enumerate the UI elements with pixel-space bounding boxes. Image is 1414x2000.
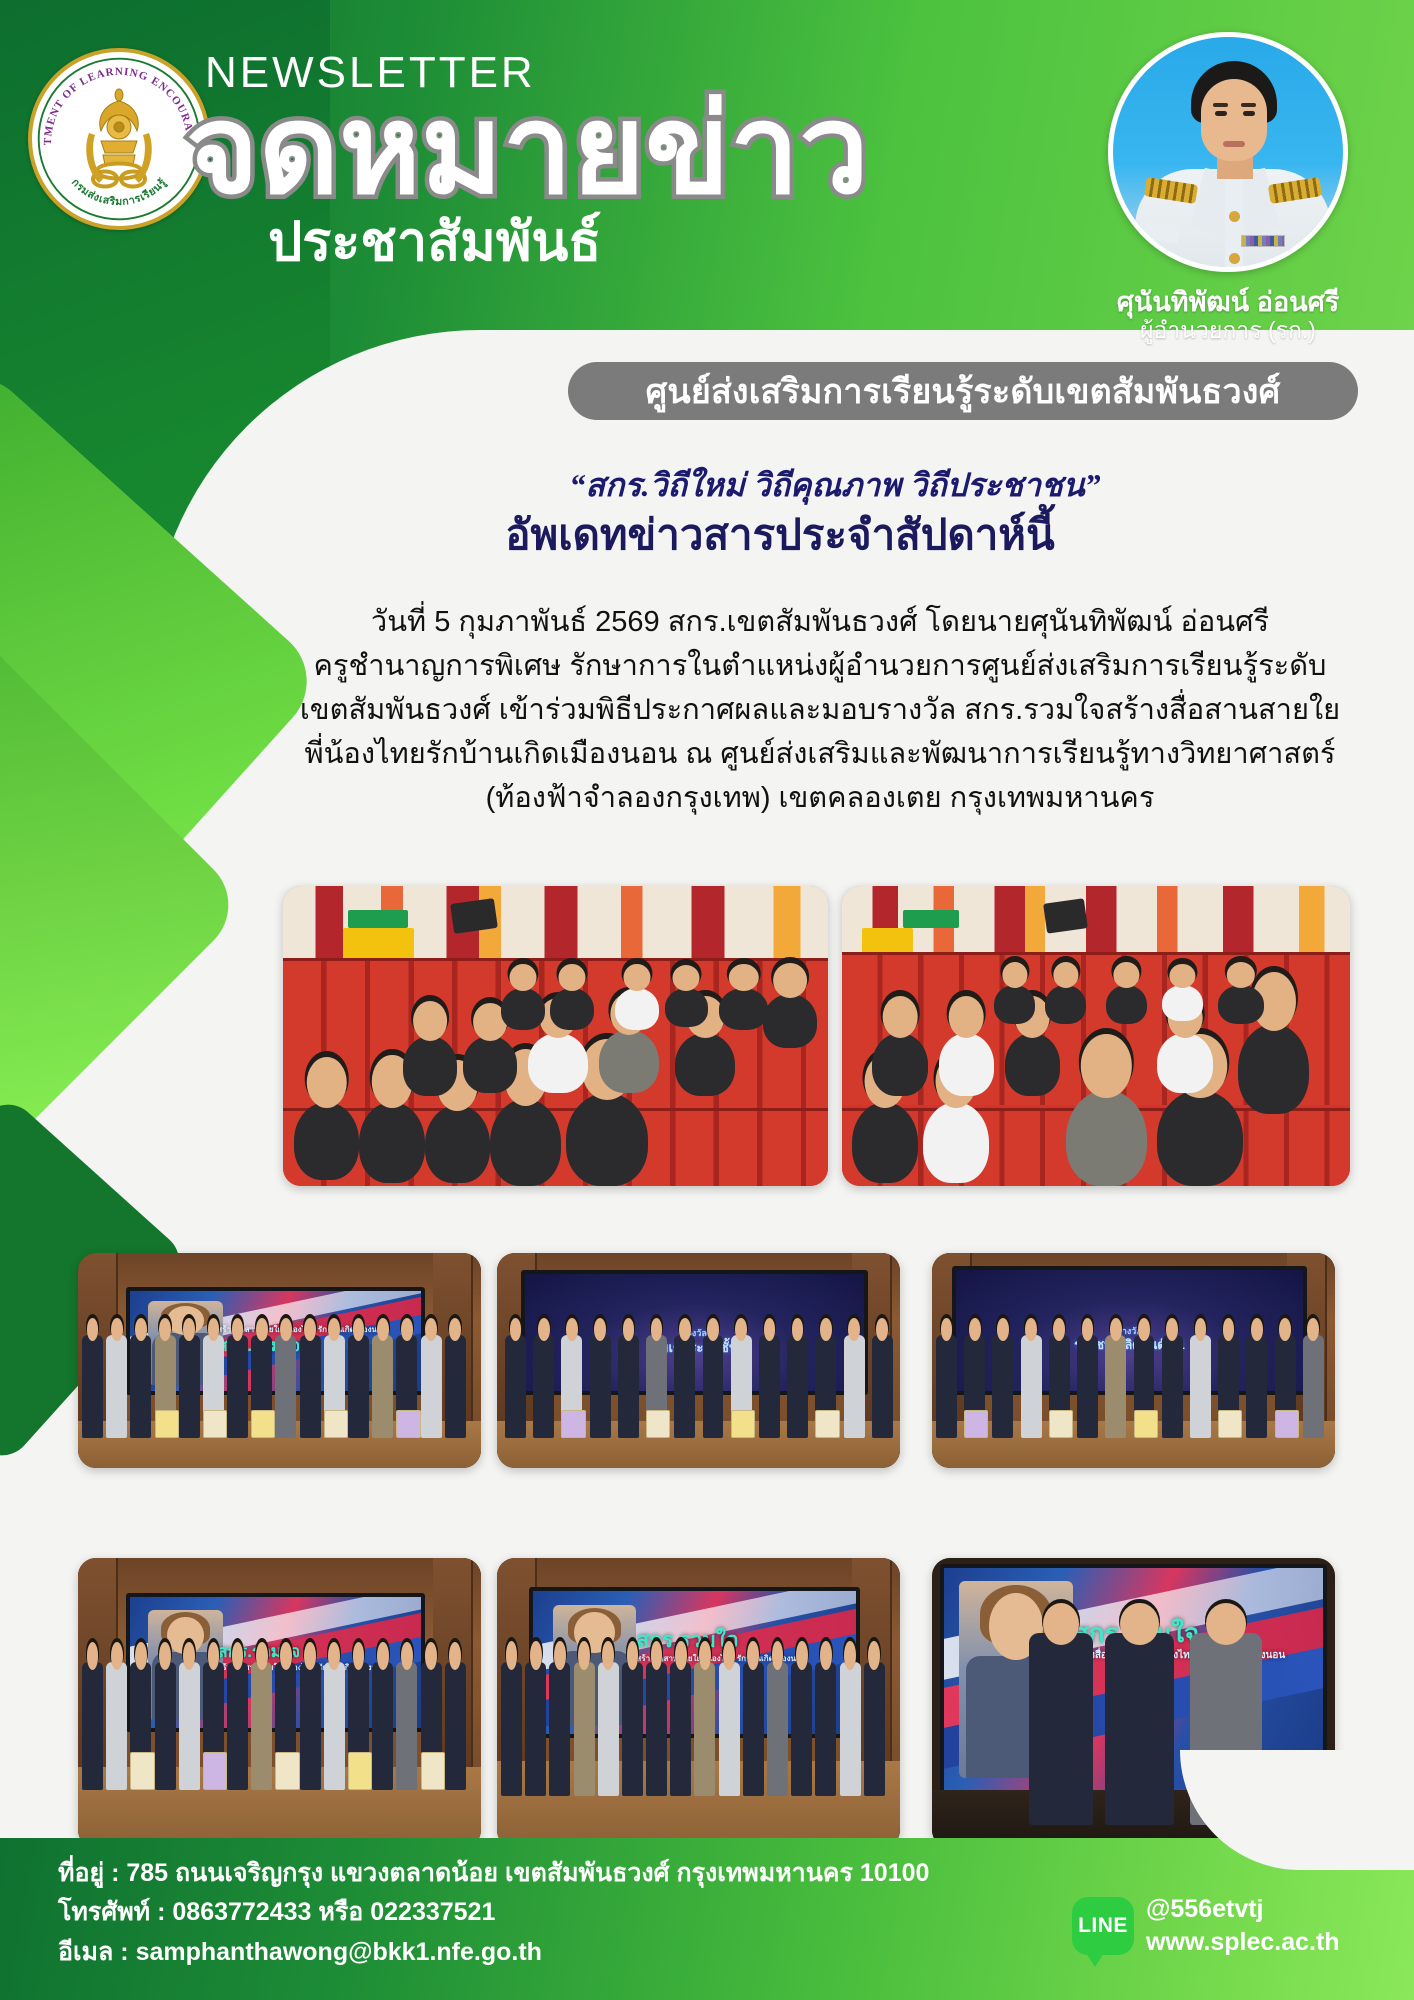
body-line-5: (ท้องฟ้าจำลองกรุงเทพ) เขตคลองเตย กรุงเทพ… [290, 776, 1350, 820]
director-role: ผู้อำนวยการ (รก.) [1050, 313, 1406, 349]
director-portrait [1108, 32, 1348, 272]
website-url[interactable]: www.splec.ac.th [1146, 1926, 1340, 1959]
screen-caption-big: สกร.รวมใจ [636, 1628, 849, 1654]
line-icon[interactable]: LINE [1072, 1897, 1134, 1955]
line-label: LINE [1078, 1914, 1128, 1938]
photo-stage-group-1: สกร.รวมใจ สร้างสื่อสานสายใยพี่น้องไทย รั… [78, 1558, 481, 1848]
line-contact-block[interactable]: LINE @556etvtj www.splec.ac.th [1072, 1893, 1340, 1958]
department-logo-seal: DEPARTMENT OF LEARNING ENCOURAGEMENT กรม… [28, 48, 210, 230]
line-handles: @556etvtj www.splec.ac.th [1146, 1893, 1340, 1958]
screen-org-logo [328, 1297, 409, 1311]
office-name-label: ศูนย์ส่งเสริมการเรียนรู้ระดับเขตสัมพันธว… [646, 364, 1281, 418]
photo-stage-award-1: สร้างสื่อสานสายใยพี่น้องไทย รักบ้านเกิดเ… [78, 1253, 481, 1468]
office-name-banner: ศูนย์ส่งเสริมการเรียนรู้ระดับเขตสัมพันธว… [568, 362, 1358, 420]
footer-band: ที่อยู่ : 785 ถนนเจริญกรุง แขวงตลาดน้อย … [0, 1838, 1414, 2000]
body-line-4: พี่น้องไทยรักบ้านเกิดเมืองนอน ณ ศูนย์ส่ง… [290, 732, 1350, 776]
royal-crown-icon [83, 87, 155, 197]
footer-address: ที่อยู่ : 785 ถนนเจริญกรุง แขวงตลาดน้อย … [58, 1854, 929, 1894]
photo-stage-award-3: รางวัล รองชนะเลิศอันดับ 1 [932, 1253, 1335, 1468]
photo-stage-group-2: สกร.รวมใจ สร้างสื่อสานสายใยพี่น้องไทย รั… [497, 1558, 900, 1848]
page-subtitle: ประชาสัมพันธ์ [268, 198, 601, 284]
screen-org-logo [753, 1600, 843, 1620]
photo-audience-right [842, 886, 1350, 1186]
body-line-2: ครูชำนาญการพิเศษ รักษาการในตำแหน่งผู้อำน… [290, 644, 1350, 688]
body-line-3: เขตสัมพันธวงศ์ เข้าร่วมพิธีประกาศผลและมอ… [290, 688, 1350, 732]
body-line-1: วันที่ 5 กุมภาพันธ์ 2569 สกร.เขตสัมพันธว… [290, 600, 1350, 644]
news-body: วันที่ 5 กุมภาพันธ์ 2569 สกร.เขตสัมพันธว… [290, 600, 1350, 820]
photo-stage-award-2: รางวัล ชมเชยระดับชั้น [497, 1253, 900, 1468]
photo-audience-left [283, 886, 828, 1186]
officer-portrait-icon [1108, 32, 1348, 272]
footer-email[interactable]: อีเมล : samphanthawong@bkk1.nfe.go.th [58, 1933, 929, 1973]
headline-text: อัพเดทข่าวสารประจำสัปดาห์นี้ [250, 502, 1310, 568]
line-id[interactable]: @556etvtj [1146, 1893, 1340, 1926]
footer-contact-block: ที่อยู่ : 785 ถนนเจริญกรุง แขวงตลาดน้อย … [58, 1854, 929, 1973]
page-title: จดหมายข่าว [186, 88, 869, 212]
footer-notch-curve [1180, 1750, 1414, 1870]
newsletter-poster: DEPARTMENT OF LEARNING ENCOURAGEMENT กรม… [0, 0, 1414, 2000]
footer-phone: โทรศัพท์ : 0863772433 หรือ 022337521 [58, 1893, 929, 1933]
